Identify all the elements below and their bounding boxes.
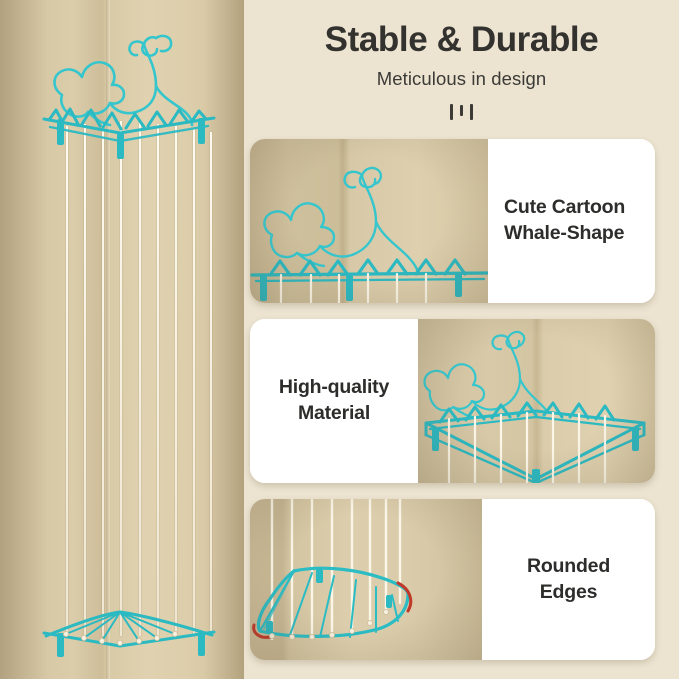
card-3-line-1: Rounded	[527, 555, 610, 577]
card-text-high-quality-material: High-quality Material	[250, 319, 418, 483]
card-3-line-2: Edges	[540, 581, 598, 603]
photo-vignette	[250, 499, 482, 660]
hero-rack-illustration	[0, 0, 244, 679]
photo-vignette	[250, 139, 488, 303]
feature-card-high-quality-material[interactable]: High-quality Material	[250, 319, 655, 483]
hero-product-photo	[0, 0, 244, 679]
card-photo-whale-shape	[250, 139, 488, 303]
page-title: Stable & Durable	[325, 22, 599, 59]
card-text-rounded-edges: Rounded Edges	[482, 499, 655, 660]
card-1-line-2: Whale-Shape	[504, 222, 624, 244]
card-photo-material	[418, 319, 655, 483]
photo-vignette	[418, 319, 655, 483]
three-vertical-marks-icon	[450, 103, 473, 120]
card-photo-rounded-edges	[250, 499, 482, 660]
card-1-line-1: Cute Cartoon	[504, 196, 625, 218]
feature-card-rounded-edges[interactable]: Rounded Edges	[250, 499, 655, 660]
infographic-page: Stable & Durable Meticulous in design	[0, 0, 679, 679]
page-subtitle: Meticulous in design	[377, 68, 547, 90]
card-text-whale-shape: Cute Cartoon Whale-Shape	[488, 139, 655, 303]
card-2-line-2: Material	[298, 402, 370, 424]
feature-card-cute-cartoon-whale-shape[interactable]: Cute Cartoon Whale-Shape	[250, 139, 655, 303]
header: Stable & Durable Meticulous in design	[244, 0, 679, 134]
card-2-line-1: High-quality	[279, 376, 389, 398]
